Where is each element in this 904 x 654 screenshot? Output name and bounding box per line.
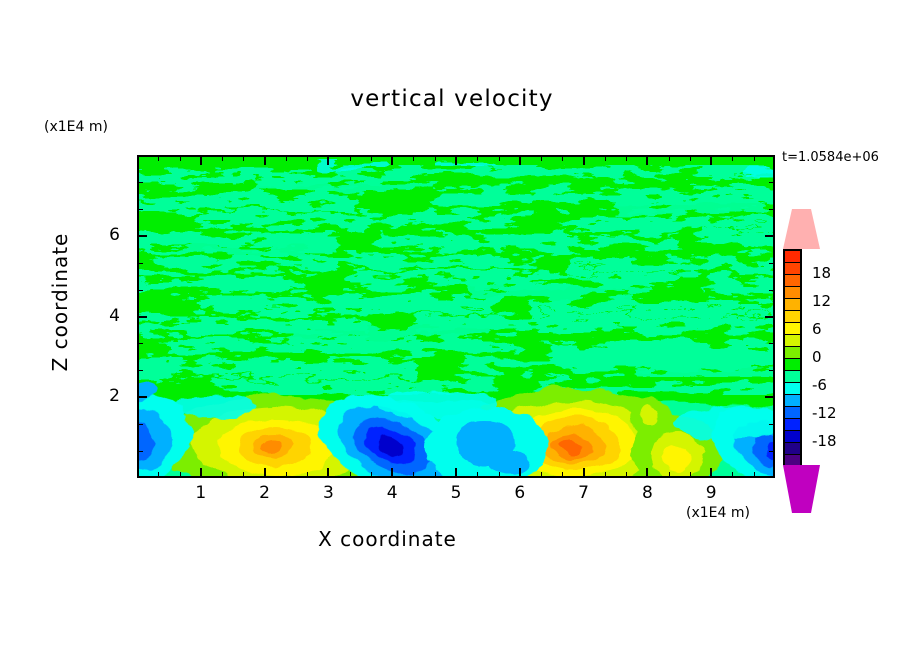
x-tick-major xyxy=(264,468,266,478)
x-tick-minor-top xyxy=(732,155,733,161)
y-tick-minor xyxy=(137,424,143,425)
x-tick-major-top xyxy=(710,155,712,165)
colorbar-band xyxy=(785,347,800,359)
y-tick-major xyxy=(137,396,147,398)
y-tick-minor-right xyxy=(769,209,775,210)
x-tick-major xyxy=(455,468,457,478)
x-tick-minor-top xyxy=(541,155,542,161)
x-tick-major-top xyxy=(646,155,648,165)
colorbar-band xyxy=(785,431,800,443)
x-tick-major xyxy=(200,468,202,478)
y-tick-minor-right xyxy=(769,451,775,452)
y-tick-minor-right xyxy=(769,182,775,183)
x-tick-major-top xyxy=(583,155,585,165)
x-tick-minor xyxy=(222,472,223,478)
x-tick-label: 8 xyxy=(627,483,667,503)
x-tick-minor-top xyxy=(180,155,181,161)
x-tick-minor-top xyxy=(286,155,287,161)
x-tick-minor-top xyxy=(222,155,223,161)
x-tick-minor xyxy=(413,472,414,478)
y-tick-minor-right xyxy=(769,370,775,371)
x-tick-major-top xyxy=(391,155,393,165)
x-tick-minor xyxy=(435,472,436,478)
x-tick-minor-top xyxy=(243,155,244,161)
x-tick-label: 6 xyxy=(500,483,540,503)
x-tick-minor xyxy=(371,472,372,478)
x-tick-minor-top xyxy=(626,155,627,161)
x-tick-minor-top xyxy=(350,155,351,161)
x-tick-major-top xyxy=(327,155,329,165)
x-tick-minor xyxy=(499,472,500,478)
y-tick-major-right xyxy=(765,396,775,398)
x-tick-minor xyxy=(477,472,478,478)
x-tick-minor xyxy=(626,472,627,478)
x-tick-minor-top xyxy=(158,155,159,161)
y-tick-minor xyxy=(137,451,143,452)
x-tick-minor-top xyxy=(371,155,372,161)
x-tick-minor xyxy=(690,472,691,478)
x-tick-label: 2 xyxy=(245,483,285,503)
colorbar-band xyxy=(785,311,800,323)
colorbar-band xyxy=(785,359,800,371)
colorbar-band xyxy=(785,371,800,383)
colorbar-band xyxy=(785,335,800,347)
colorbar-band xyxy=(785,299,800,311)
y-tick-minor-right xyxy=(769,343,775,344)
x-tick-minor-top xyxy=(413,155,414,161)
x-tick-minor xyxy=(732,472,733,478)
colorbar-band xyxy=(785,263,800,275)
contour-field xyxy=(137,155,775,478)
y-axis-unit-label: (x1E4 m) xyxy=(44,119,108,135)
y-tick-label: 2 xyxy=(92,386,120,406)
x-axis-title: X coordinate xyxy=(0,527,775,551)
x-tick-label: 3 xyxy=(308,483,348,503)
x-tick-major xyxy=(391,468,393,478)
timestamp-annotation: t=1.0584e+06 xyxy=(782,150,879,165)
y-tick-minor xyxy=(137,263,143,264)
x-tick-minor xyxy=(243,472,244,478)
x-tick-label: 4 xyxy=(372,483,412,503)
x-tick-minor-top xyxy=(477,155,478,161)
colorbar-tick-label: 6 xyxy=(812,320,822,338)
y-tick-major-right xyxy=(765,235,775,237)
x-tick-label: 7 xyxy=(564,483,604,503)
colorbar-cap-top xyxy=(783,209,820,249)
y-tick-label: 6 xyxy=(92,225,120,245)
x-axis-unit-label: (x1E4 m) xyxy=(686,505,750,521)
colorbar-tick-label: -6 xyxy=(812,376,827,394)
x-tick-minor-top xyxy=(605,155,606,161)
colorbar-tick-label: 18 xyxy=(812,264,831,282)
x-tick-major xyxy=(710,468,712,478)
y-tick-minor-right xyxy=(769,424,775,425)
x-tick-major xyxy=(583,468,585,478)
x-tick-minor-top xyxy=(669,155,670,161)
y-tick-minor xyxy=(137,182,143,183)
colorbar-tick-label: 0 xyxy=(812,348,822,366)
colorbar-band xyxy=(785,443,800,455)
colorbar xyxy=(783,249,802,465)
x-tick-minor-top xyxy=(690,155,691,161)
colorbar-tick-label: -12 xyxy=(812,404,837,422)
x-tick-minor xyxy=(562,472,563,478)
contour-plot-area xyxy=(137,155,775,478)
colorbar-band xyxy=(785,275,800,287)
colorbar-band xyxy=(785,287,800,299)
x-tick-major-top xyxy=(264,155,266,165)
x-tick-major xyxy=(519,468,521,478)
colorbar-cap-bottom xyxy=(783,465,820,513)
y-tick-minor-right xyxy=(769,263,775,264)
x-tick-label: 5 xyxy=(436,483,476,503)
x-tick-minor xyxy=(541,472,542,478)
y-tick-minor xyxy=(137,370,143,371)
y-tick-minor-right xyxy=(769,290,775,291)
colorbar-band xyxy=(785,251,800,263)
page-title: vertical velocity xyxy=(0,86,904,112)
x-tick-minor xyxy=(669,472,670,478)
y-tick-minor xyxy=(137,343,143,344)
x-tick-major-top xyxy=(455,155,457,165)
colorbar-band xyxy=(785,395,800,407)
x-tick-minor xyxy=(605,472,606,478)
x-tick-minor-top xyxy=(435,155,436,161)
y-tick-major xyxy=(137,235,147,237)
x-tick-minor xyxy=(286,472,287,478)
x-tick-minor-top xyxy=(562,155,563,161)
y-tick-minor xyxy=(137,209,143,210)
y-tick-minor xyxy=(137,290,143,291)
x-tick-label: 1 xyxy=(181,483,221,503)
x-tick-minor xyxy=(754,472,755,478)
x-tick-major-top xyxy=(200,155,202,165)
x-tick-minor xyxy=(307,472,308,478)
x-tick-minor xyxy=(350,472,351,478)
y-tick-major-right xyxy=(765,316,775,318)
colorbar-tick-label: -18 xyxy=(812,432,837,450)
x-tick-label: 9 xyxy=(691,483,731,503)
y-tick-major xyxy=(137,316,147,318)
colorbar-band xyxy=(785,383,800,395)
x-tick-major-top xyxy=(519,155,521,165)
x-tick-minor xyxy=(180,472,181,478)
y-tick-label: 4 xyxy=(92,306,120,326)
colorbar-band xyxy=(785,419,800,431)
colorbar-tick-label: 12 xyxy=(812,292,831,310)
x-tick-major xyxy=(327,468,329,478)
x-tick-major xyxy=(646,468,648,478)
x-tick-minor xyxy=(158,472,159,478)
x-tick-minor-top xyxy=(754,155,755,161)
x-tick-minor-top xyxy=(307,155,308,161)
colorbar-band xyxy=(785,323,800,335)
colorbar-band xyxy=(785,407,800,419)
x-tick-minor-top xyxy=(499,155,500,161)
y-axis-title: Z coordinate xyxy=(48,212,72,392)
